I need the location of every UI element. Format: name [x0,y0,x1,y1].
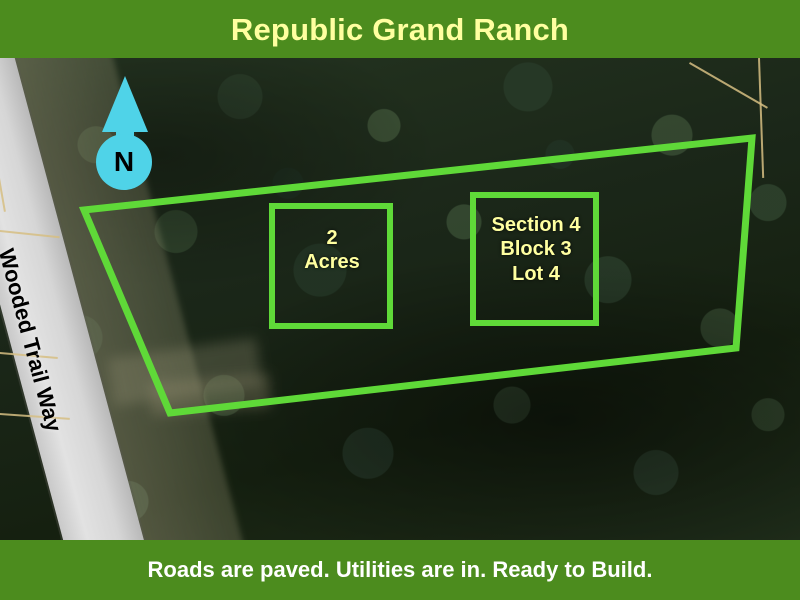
footer-bar: Roads are paved. Utilities are in. Ready… [0,540,800,600]
acreage-label: 2 Acres [276,226,388,275]
footer-message: Roads are paved. Utilities are in. Ready… [148,559,653,581]
north-letter: N [96,134,152,190]
section-block-lot-label: Section 4 Block 3 Lot 4 [476,213,596,286]
page-title: Republic Grand Ranch [231,14,569,45]
aerial-map: Wooded Trail Way N 2 Acres Section 4 Blo… [0,58,800,540]
north-compass: N [94,76,156,192]
north-arrow-icon [102,76,148,132]
listing-map-graphic: Republic Grand Ranch Wooded Trail Way N [0,0,800,600]
header-bar: Republic Grand Ranch [0,0,800,58]
